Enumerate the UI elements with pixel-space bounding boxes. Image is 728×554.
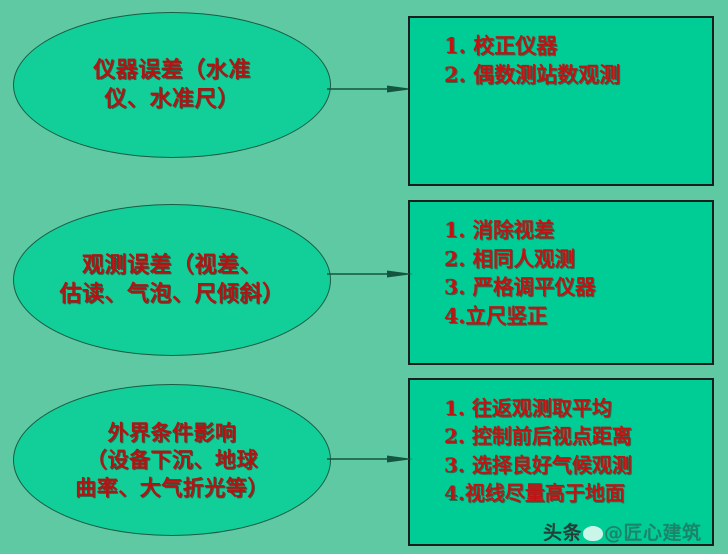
measure-item: 4.立尺竖正 bbox=[444, 302, 712, 331]
measure-item: 3. 选择良好气候观测 bbox=[444, 451, 712, 479]
cause-ellipse-3: 外界条件影响 （设备下沉、地球 曲率、大气折光等） bbox=[13, 384, 331, 536]
arrow-connector-2 bbox=[327, 263, 413, 285]
measure-item: 3. 严格调平仪器 bbox=[444, 273, 712, 302]
cause-ellipse-1-label: 仪器误差（水准 仪、水准尺） bbox=[79, 56, 265, 114]
measure-box-3: 1. 往返观测取平均 2. 控制前后视点距离 3. 选择良好气候观测 4.视线尽… bbox=[408, 378, 714, 546]
cause-ellipse-2: 观测误差（视差、 估读、气泡、尺倾斜） bbox=[13, 204, 331, 356]
arrow-connector-1 bbox=[327, 78, 413, 100]
measure-item: 2. 控制前后视点距离 bbox=[444, 422, 712, 450]
measure-item: 4.视线尽量高于地面 bbox=[444, 479, 712, 507]
arrow-connector-3 bbox=[327, 448, 413, 470]
measure-item: 1. 校正仪器 bbox=[444, 32, 712, 61]
measure-item: 2. 相同人观测 bbox=[444, 245, 712, 274]
slide-canvas: 仪器误差（水准 仪、水准尺） 1. 校正仪器 2. 偶数测站数观测 观测误差（视… bbox=[0, 0, 728, 554]
cause-ellipse-1: 仪器误差（水准 仪、水准尺） bbox=[13, 12, 331, 158]
measure-item: 1. 消除视差 bbox=[444, 216, 712, 245]
cause-ellipse-2-label: 观测误差（视差、 估读、气泡、尺倾斜） bbox=[45, 251, 298, 309]
measure-box-1: 1. 校正仪器 2. 偶数测站数观测 bbox=[408, 16, 714, 186]
measure-box-2: 1. 消除视差 2. 相同人观测 3. 严格调平仪器 4.立尺竖正 bbox=[408, 200, 714, 365]
measure-item: 1. 往返观测取平均 bbox=[444, 394, 712, 422]
diagram-row-1: 仪器误差（水准 仪、水准尺） 1. 校正仪器 2. 偶数测站数观测 bbox=[0, 0, 728, 190]
cause-ellipse-3-label: 外界条件影响 （设备下沉、地球 曲率、大气折光等） bbox=[61, 419, 283, 501]
measure-item: 2. 偶数测站数观测 bbox=[444, 61, 712, 90]
